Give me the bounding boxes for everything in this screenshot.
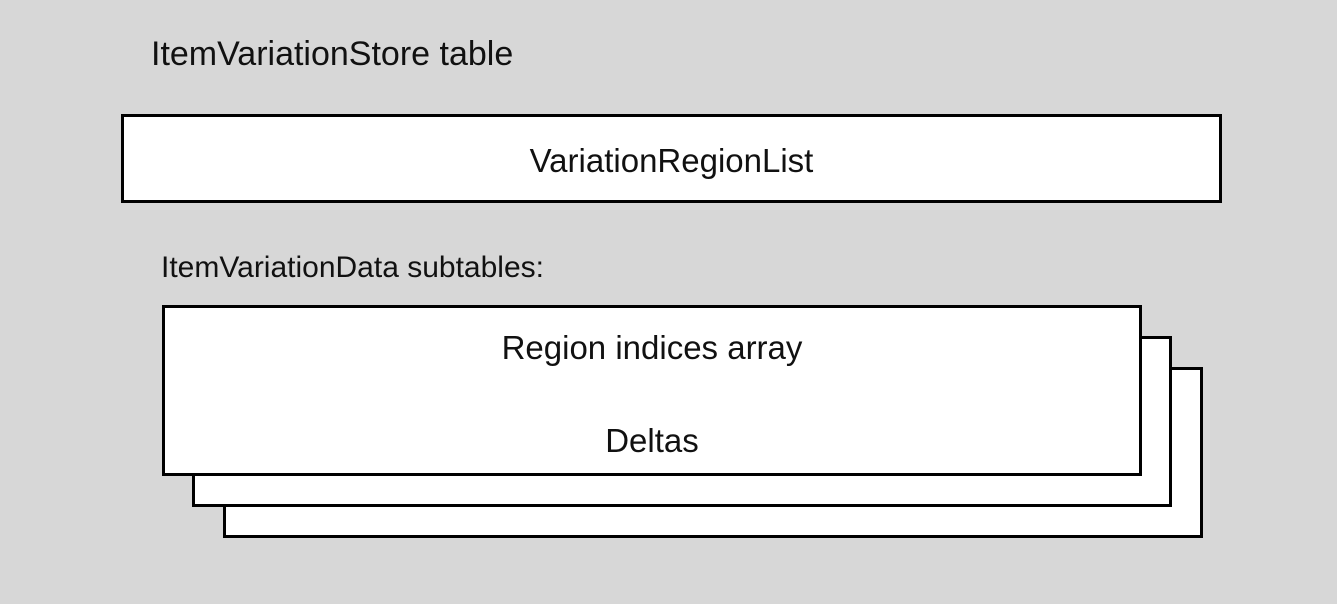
- page-title: ItemVariationStore table: [151, 33, 513, 75]
- diagram-canvas: ItemVariationStore table VariationRegion…: [0, 0, 1337, 604]
- variation-region-list-box: VariationRegionList: [121, 114, 1222, 203]
- variation-region-list-label: VariationRegionList: [124, 141, 1219, 181]
- item-variation-data-subtable-front: Region indices array Deltas: [162, 305, 1142, 476]
- deltas-label: Deltas: [165, 421, 1139, 461]
- region-indices-array-label: Region indices array: [165, 328, 1139, 368]
- item-variation-data-subtables-label: ItemVariationData subtables:: [161, 249, 544, 287]
